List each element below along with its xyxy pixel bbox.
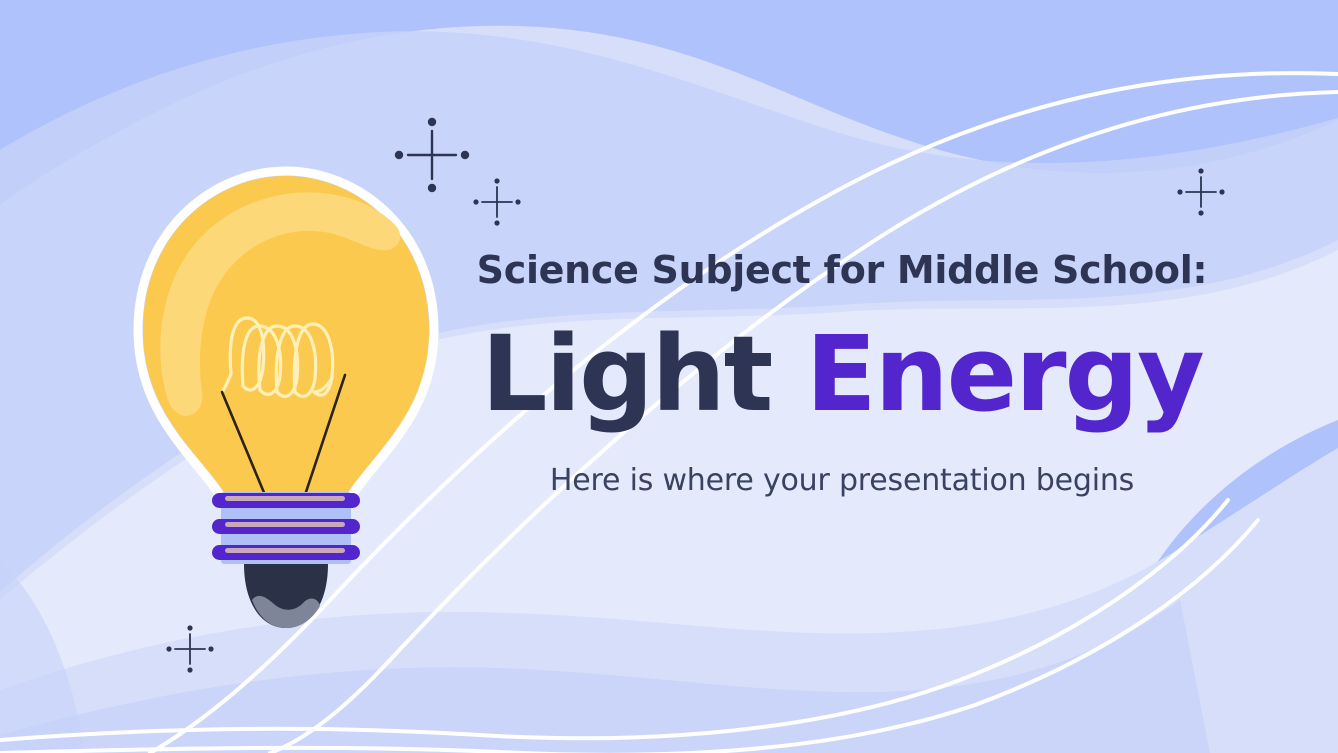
slide-text-block: Science Subject for Middle School: Light… [462,248,1222,498]
title-word-light: Light [481,313,771,435]
slide-subtitle: Here is where your presentation begins [462,463,1222,498]
title-word-energy: Energy [806,313,1203,435]
slide-eyebrow: Science Subject for Middle School: [462,248,1222,294]
page-title: Light Energy [462,320,1222,429]
sparkle-small-bottom-left-icon [166,625,213,672]
sparkle-large-top-left-icon [395,118,469,192]
sparkle-small-right-icon [1177,168,1224,215]
sparkle-medium-top-center-icon [473,178,520,225]
presentation-slide: Science Subject for Middle School: Light… [0,0,1338,753]
